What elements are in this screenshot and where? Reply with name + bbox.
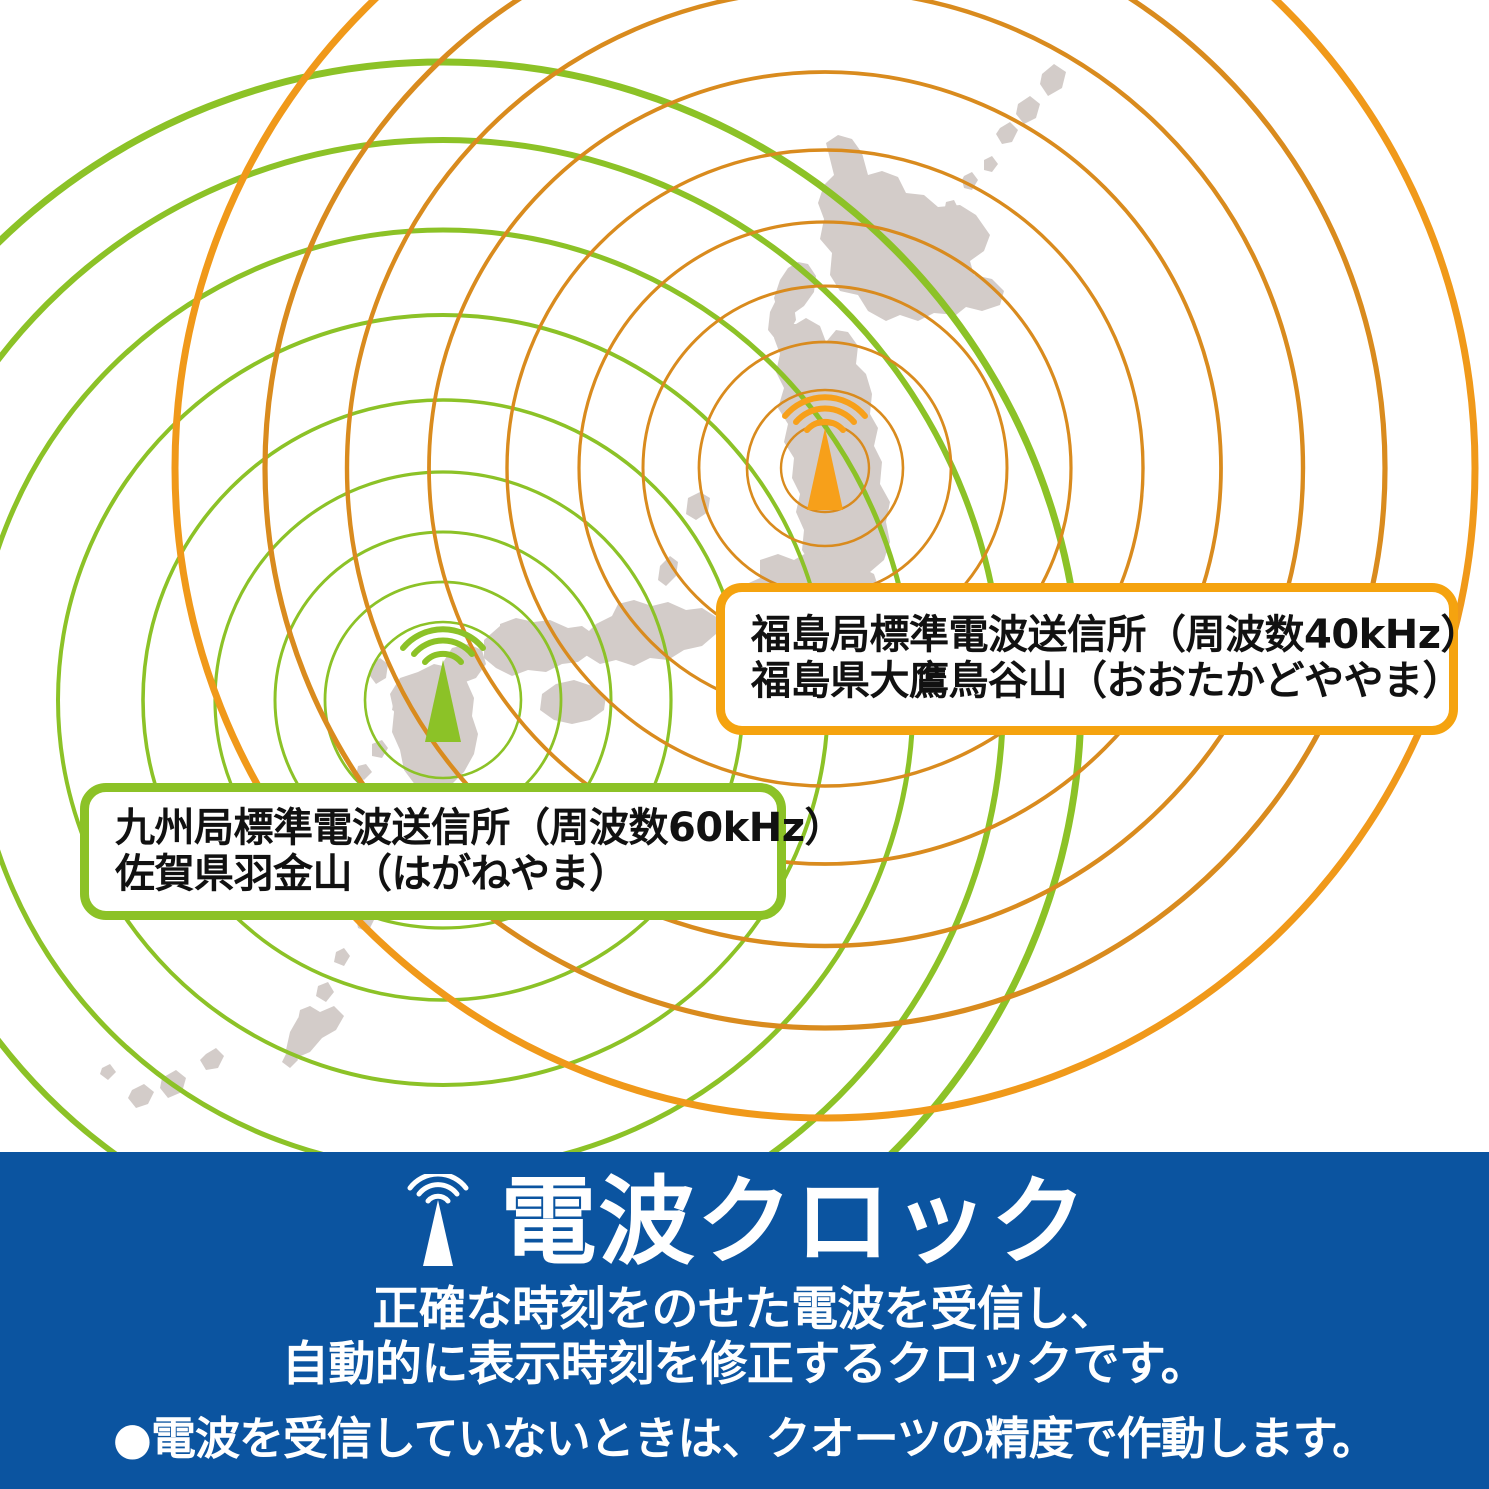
banner-note: ●電波を受信していないときは、クオーツの精度で作動します。	[113, 1414, 1377, 1464]
callout-kyushu: 九州局標準電波送信所（周波数60kHz） 佐賀県羽金山（はがねやま）	[80, 783, 786, 920]
callout-fukushima-line2: 福島県大鷹鳥谷山（おおたかどややま）	[751, 659, 1449, 705]
callout-fukushima: 福島局標準電波送信所（周波数40kHz） 福島県大鷹鳥谷山（おおたかどややま）	[716, 583, 1458, 735]
radio-tower-icon	[401, 1174, 475, 1270]
coverage-map: 福島局標準電波送信所（周波数40kHz） 福島県大鷹鳥谷山（おおたかどややま） …	[0, 0, 1489, 1152]
callout-kyushu-line1: 九州局標準電波送信所（周波数60kHz）	[115, 806, 777, 852]
radio-clock-infographic: 福島局標準電波送信所（周波数40kHz） 福島県大鷹鳥谷山（おおたかどややま） …	[0, 0, 1489, 1489]
radio-clock-banner: 電波クロック 正確な時刻をのせた電波を受信し、 自動的に表示時刻を修正するクロッ…	[0, 1152, 1489, 1489]
banner-title: 電波クロック	[501, 1174, 1089, 1270]
banner-title-row: 電波クロック	[401, 1166, 1089, 1278]
callout-kyushu-line2: 佐賀県羽金山（はがねやま）	[115, 852, 777, 898]
banner-subtitle-line2: 自動的に表示時刻を修正するクロックです。	[282, 1337, 1207, 1392]
banner-subtitle-line1: 正確な時刻をのせた電波を受信し、	[373, 1282, 1117, 1337]
map-graphic	[0, 0, 1489, 1152]
callout-fukushima-line1: 福島局標準電波送信所（周波数40kHz）	[751, 613, 1449, 659]
